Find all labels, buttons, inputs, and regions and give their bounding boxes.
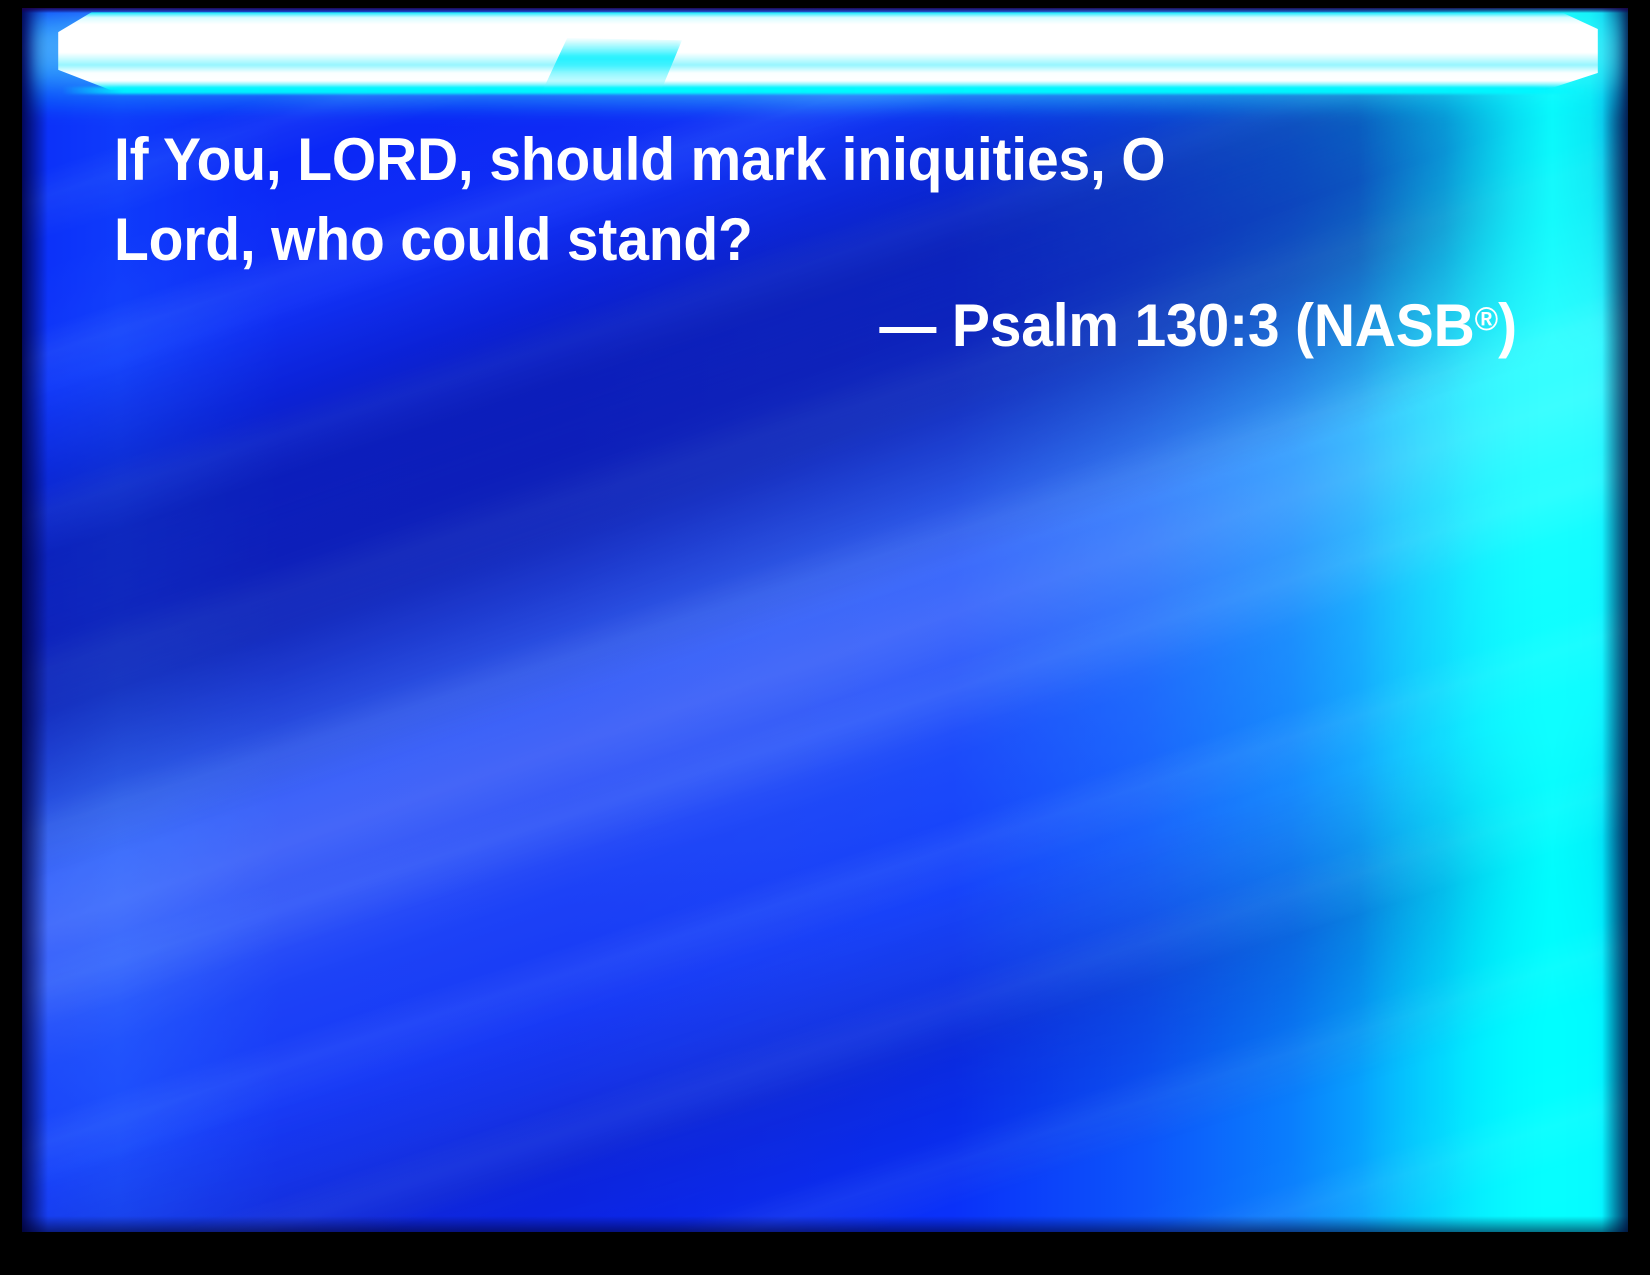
verse-line-2: Lord, who could stand? bbox=[114, 200, 1463, 280]
slide-canvas: If You, LORD, should mark iniquities, O … bbox=[22, 8, 1628, 1232]
background-bottom-edge-shade bbox=[22, 1216, 1628, 1232]
attribution-open-paren: ( bbox=[1295, 292, 1314, 359]
attribution-reference: Psalm 130:3 bbox=[952, 292, 1279, 359]
attribution-close-paren: ) bbox=[1498, 292, 1517, 359]
background-right-edge-shade bbox=[1602, 8, 1628, 1232]
banner-core bbox=[58, 12, 1598, 90]
attribution-translation: NASB bbox=[1314, 292, 1475, 359]
banner-underline bbox=[62, 87, 1594, 94]
attribution-dash: — bbox=[879, 292, 936, 359]
verse-attribution: — Psalm 130:3 (NASB®) bbox=[185, 280, 1534, 366]
background-left-edge-shade bbox=[22, 8, 48, 1232]
scripture-slide: If You, LORD, should mark iniquities, O … bbox=[0, 0, 1650, 1275]
banner-top-hairline bbox=[22, 8, 1628, 13]
verse-line-1: If You, LORD, should mark iniquities, O bbox=[114, 120, 1463, 200]
verse-text-block: If You, LORD, should mark iniquities, O … bbox=[114, 120, 1534, 366]
registered-trademark-icon: ® bbox=[1475, 301, 1499, 338]
top-glow-banner bbox=[22, 8, 1628, 104]
